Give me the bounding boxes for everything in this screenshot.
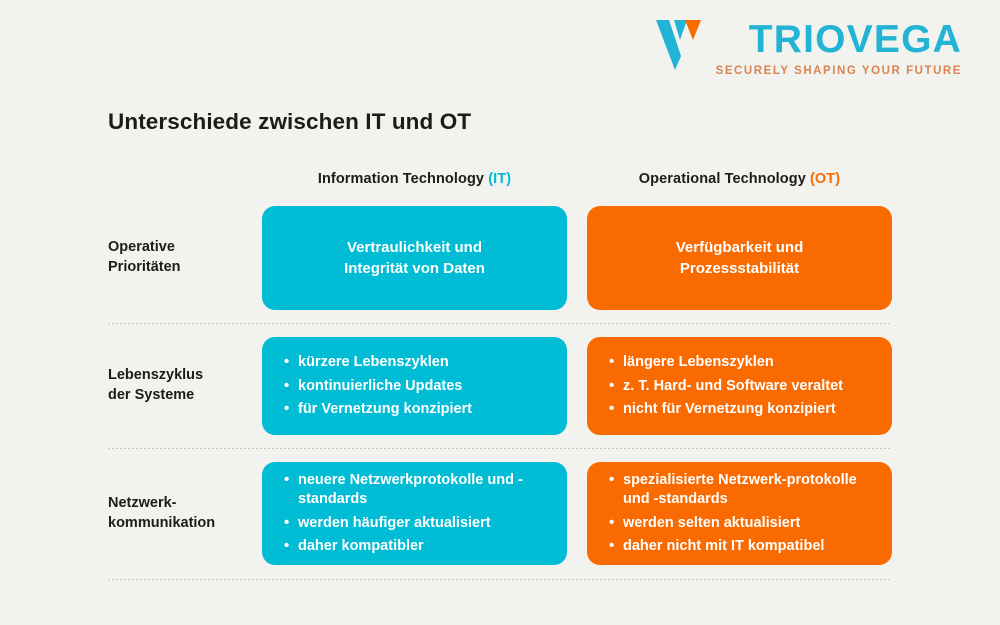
card-ot-line2: Prozessstabilität — [680, 260, 799, 277]
list-item: kontinuierliche Updates — [284, 377, 551, 396]
card-it-line2: Integrität von Daten — [344, 260, 485, 277]
column-header-ot-abbr: (OT) — [810, 171, 840, 187]
cell-gap — [567, 462, 587, 565]
trio-vega-v-mark-icon — [656, 18, 712, 70]
card-ot-lebenszyklus[interactable]: längere Lebenszyklen z. T. Hard- und Sof… — [587, 337, 892, 435]
list-item: z. T. Hard- und Software veraltet — [609, 377, 876, 396]
card-ot-text: Verfügbarkeit und Prozessstabilität — [587, 227, 892, 290]
column-header-ot-title: Operational Technology — [639, 171, 810, 187]
card-it-bullet-list: neuere Netzwerkprotokolle und -standards… — [262, 461, 567, 566]
card-it-bullet-list: kürzere Lebenszyklen kontinuierliche Upd… — [262, 343, 567, 430]
cell-gap — [567, 337, 587, 435]
page-title: Unterschiede zwischen IT und OT — [108, 109, 471, 135]
card-it-operative-prioritaeten[interactable]: Vertraulichkeit und Integrität von Daten — [262, 206, 567, 310]
column-header-it: Information Technology (IT) — [262, 171, 567, 187]
row-label-line1: Lebenszyklus — [108, 367, 203, 383]
brand-tagline: SECURELY SHAPING YOUR FUTURE — [716, 66, 962, 78]
list-item: für Vernetzung konzipiert — [284, 400, 551, 419]
row-label-line2: Prioritäten — [108, 259, 181, 275]
row-divider-1 — [108, 323, 892, 324]
list-item: kürzere Lebenszyklen — [284, 353, 551, 372]
list-item: daher kompatibler — [284, 537, 551, 556]
column-header-ot: Operational Technology (OT) — [587, 171, 892, 187]
list-item: längere Lebenszyklen — [609, 353, 876, 372]
row-label-line2: kommunikation — [108, 515, 215, 531]
column-header-row: Information Technology (IT) Operational … — [108, 163, 892, 195]
card-it-netzwerkkommunikation[interactable]: neuere Netzwerkprotokolle und -standards… — [262, 462, 567, 565]
list-item: nicht für Vernetzung konzipiert — [609, 400, 876, 419]
brand-wordmark: TRIOVEGA — [749, 20, 962, 59]
row-label-netzwerkkommunikation: Netzwerk- kommunikation — [108, 462, 262, 565]
column-header-it-abbr: (IT) — [488, 171, 511, 187]
list-item: werden selten aktualisiert — [609, 514, 876, 533]
row-divider-2 — [108, 448, 892, 449]
column-header-it-title: Information Technology — [318, 171, 488, 187]
row-label-line1: Operative — [108, 239, 175, 255]
card-it-line1: Vertraulichkeit und — [347, 239, 482, 256]
brand-logo: TRIOVEGA SECURELY SHAPING YOUR FUTURE — [656, 18, 962, 78]
row-lebenszyklus-der-systeme: Lebenszyklus der Systeme kürzere Lebensz… — [108, 337, 892, 435]
list-item: spezialisierte Netzwerk-protokolle und -… — [609, 471, 876, 509]
card-ot-bullet-list: spezialisierte Netzwerk-protokolle und -… — [587, 461, 892, 566]
card-ot-operative-prioritaeten[interactable]: Verfügbarkeit und Prozessstabilität — [587, 206, 892, 310]
row-label-line1: Netzwerk- — [108, 495, 177, 511]
row-operative-prioritaeten: Operative Prioritäten Vertraulichkeit un… — [108, 206, 892, 310]
card-it-lebenszyklus[interactable]: kürzere Lebenszyklen kontinuierliche Upd… — [262, 337, 567, 435]
row-label-lebenszyklus-der-systeme: Lebenszyklus der Systeme — [108, 337, 262, 435]
row-netzwerkkommunikation: Netzwerk- kommunikation neuere Netzwerkp… — [108, 462, 892, 565]
row-label-operative-prioritaeten: Operative Prioritäten — [108, 206, 262, 310]
card-it-text: Vertraulichkeit und Integrität von Daten — [262, 227, 567, 290]
card-ot-bullet-list: längere Lebenszyklen z. T. Hard- und Sof… — [587, 343, 892, 430]
row-label-line2: der Systeme — [108, 387, 194, 403]
row-divider-3 — [108, 579, 892, 580]
card-ot-netzwerkkommunikation[interactable]: spezialisierte Netzwerk-protokolle und -… — [587, 462, 892, 565]
cell-gap — [567, 206, 587, 310]
list-item: daher nicht mit IT kompatibel — [609, 537, 876, 556]
list-item: neuere Netzwerkprotokolle und -standards — [284, 471, 551, 509]
list-item: werden häufiger aktualisiert — [284, 514, 551, 533]
card-ot-line1: Verfügbarkeit und — [676, 239, 804, 256]
comparison-matrix: Information Technology (IT) Operational … — [108, 163, 892, 580]
